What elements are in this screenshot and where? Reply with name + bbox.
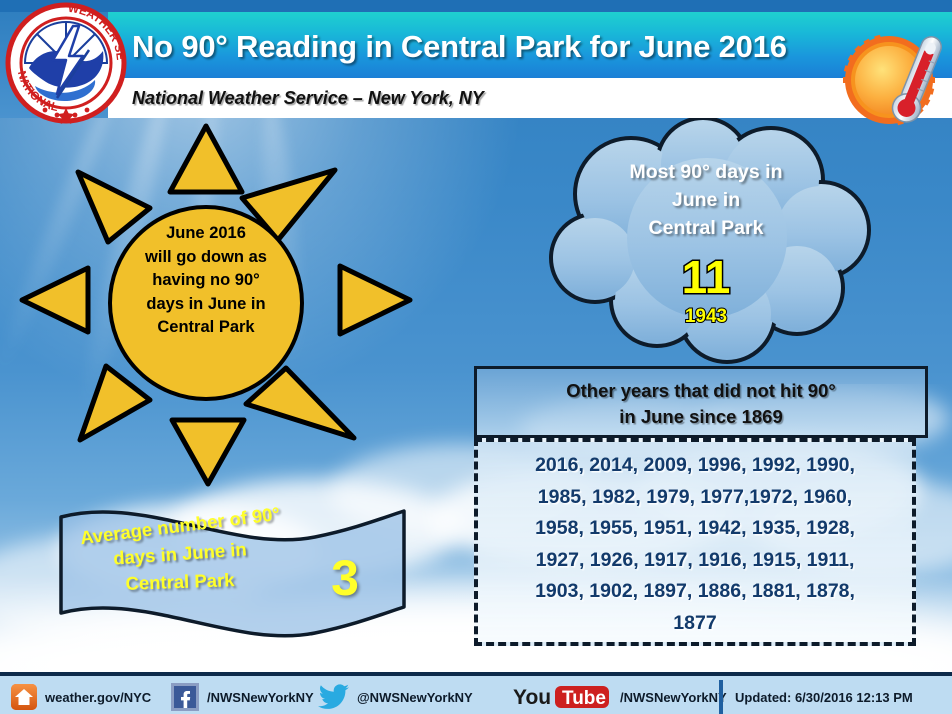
footer-updated-text: Updated: 6/30/2016 12:13 PM bbox=[735, 676, 913, 714]
footer-link-label: @NWSNewYorkNY bbox=[357, 690, 473, 705]
ribbon-callout-text: Average number of 90° days in June in Ce… bbox=[60, 512, 300, 596]
footer-divider bbox=[719, 680, 723, 714]
cloud-line-1: Most 90° days in bbox=[575, 158, 837, 186]
footer-link-label: weather.gov/NYC bbox=[45, 690, 151, 705]
sun-line-5: Central Park bbox=[110, 316, 302, 340]
sun-line-3: having no 90° bbox=[110, 269, 302, 293]
cloud-year: 1943 bbox=[575, 306, 837, 328]
footer-link-website[interactable]: weather.gov/NYC bbox=[10, 676, 151, 714]
home-icon bbox=[10, 683, 38, 711]
svg-text:Tube: Tube bbox=[562, 688, 606, 709]
years-row: 1985, 1982, 1979, 1977,1972, 1960, bbox=[480, 482, 910, 514]
footer-link-youtube[interactable]: You Tube /NWSNewYorkNY bbox=[513, 676, 727, 714]
infographic-canvas: No 90° Reading in Central Park for June … bbox=[0, 0, 952, 714]
footer-link-label: /NWSNewYorkNY bbox=[207, 690, 314, 705]
years-row: 2016, 2014, 2009, 1996, 1992, 1990, bbox=[480, 450, 910, 482]
footer-bar: weather.gov/NYC /NWSNewYorkNY @NWSNewYor… bbox=[0, 672, 952, 714]
facebook-icon bbox=[170, 682, 200, 712]
page-subtitle: National Weather Service – New York, NY bbox=[132, 80, 832, 116]
cloud-line-3: Central Park bbox=[575, 214, 837, 242]
footer-link-twitter[interactable]: @NWSNewYorkNY bbox=[318, 676, 473, 714]
cloud-value: 11 bbox=[575, 253, 837, 301]
years-heading-line-2: in June since 1869 bbox=[480, 404, 922, 430]
years-row: 1958, 1955, 1951, 1942, 1935, 1928, bbox=[480, 513, 910, 545]
footer-link-facebook[interactable]: /NWSNewYorkNY bbox=[170, 676, 314, 714]
svg-text:You: You bbox=[513, 686, 551, 709]
footer-link-label: /NWSNewYorkNY bbox=[620, 690, 727, 705]
twitter-icon bbox=[318, 683, 350, 711]
cloud-callout-shape bbox=[535, 118, 875, 368]
nws-logo-icon: WEATHER SERVICE NATIONAL bbox=[5, 2, 127, 124]
sun-line-4: days in June in bbox=[110, 293, 302, 317]
sun-line-1: June 2016 bbox=[110, 222, 302, 246]
years-row: 1927, 1926, 1917, 1916, 1915, 1911, bbox=[480, 545, 910, 577]
years-row: 1877 bbox=[480, 608, 910, 640]
sun-line-2: will go down as bbox=[110, 246, 302, 270]
header-top-strip bbox=[0, 0, 952, 12]
sun-callout-text: June 2016 will go down as having no 90° … bbox=[110, 222, 302, 340]
ribbon-value: 3 bbox=[310, 552, 380, 604]
years-heading-line-1: Other years that did not hit 90° bbox=[480, 378, 922, 404]
cloud-callout-text: Most 90° days in June in Central Park bbox=[575, 158, 837, 242]
youtube-icon: You Tube bbox=[513, 684, 613, 710]
page-title: No 90° Reading in Central Park for June … bbox=[132, 24, 832, 70]
years-list: 2016, 2014, 2009, 1996, 1992, 1990, 1985… bbox=[480, 450, 910, 639]
cloud-line-2: June in bbox=[575, 186, 837, 214]
years-row: 1903, 1902, 1897, 1886, 1881, 1878, bbox=[480, 576, 910, 608]
years-heading-text: Other years that did not hit 90° in June… bbox=[480, 378, 922, 430]
